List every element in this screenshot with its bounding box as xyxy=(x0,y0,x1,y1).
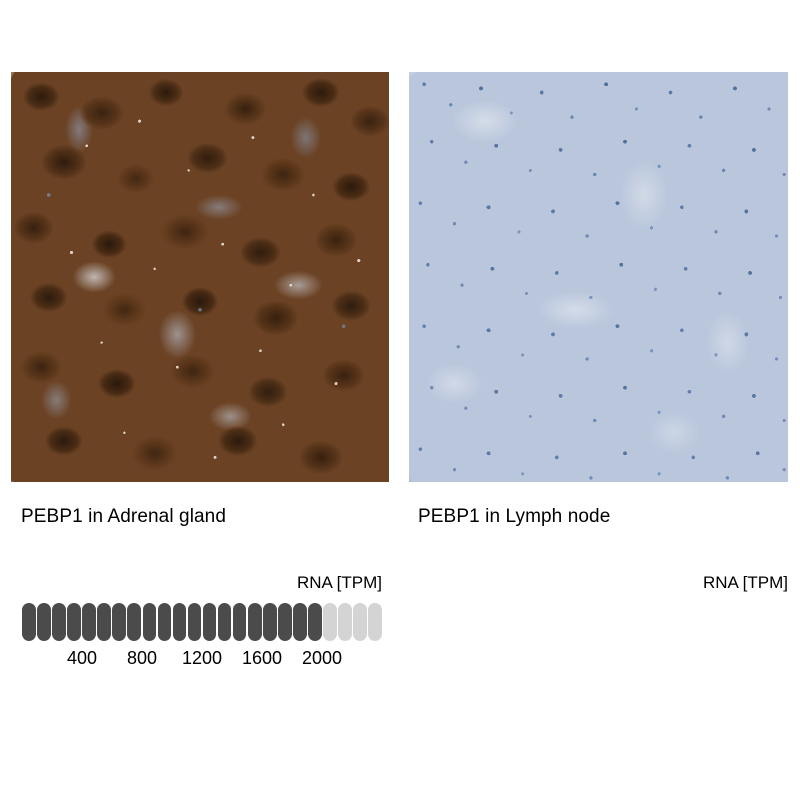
rna-block-lymph-node: RNA [TPM] 400800120016002000 xyxy=(400,0,800,800)
rna-bar-segment xyxy=(52,603,66,641)
rna-legend-label: RNA [TPM] xyxy=(703,573,788,593)
panel-lymph-node: PEBP1 in Lymph node RNA [TPM] 4008001200… xyxy=(400,0,800,800)
rna-bar-segment xyxy=(127,603,141,641)
rna-tick-label: 400 xyxy=(67,648,97,669)
rna-block-adrenal-gland: RNA [TPM] 400800120016002000 xyxy=(0,0,400,800)
rna-axis-ticks-adrenal-gland: 400800120016002000 xyxy=(22,648,382,672)
rna-bar-segment xyxy=(173,603,187,641)
rna-bar-segment xyxy=(278,603,292,641)
rna-bar-segment xyxy=(338,603,352,641)
rna-bar-segment xyxy=(97,603,111,641)
rna-bar-segment xyxy=(323,603,337,641)
rna-bar-segment xyxy=(263,603,277,641)
rna-bar-segment xyxy=(37,603,51,641)
rna-bar-segment xyxy=(308,603,322,641)
rna-bar-segment xyxy=(82,603,96,641)
rna-bar-segment xyxy=(293,603,307,641)
rna-bar-segment xyxy=(143,603,157,641)
rna-tick-label: 2000 xyxy=(302,648,342,669)
rna-bar-segment xyxy=(158,603,172,641)
rna-legend-label: RNA [TPM] xyxy=(297,573,382,593)
rna-bar-segment xyxy=(188,603,202,641)
rna-bar-adrenal-gland[interactable] xyxy=(22,603,382,641)
panel-adrenal-gland: PEBP1 in Adrenal gland RNA [TPM] 4008001… xyxy=(0,0,400,800)
rna-tick-label: 1200 xyxy=(182,648,222,669)
rna-bar-segment xyxy=(248,603,262,641)
rna-bar-segment xyxy=(233,603,247,641)
rna-tick-label: 1600 xyxy=(242,648,282,669)
protein-atlas-tissue-comparison: PEBP1 in Adrenal gland RNA [TPM] 4008001… xyxy=(0,0,800,800)
rna-bar-segment xyxy=(203,603,217,641)
rna-bar-segment xyxy=(22,603,36,641)
rna-bar-segment xyxy=(218,603,232,641)
rna-tick-label: 800 xyxy=(127,648,157,669)
rna-bar-segment xyxy=(67,603,81,641)
rna-bar-segment xyxy=(112,603,126,641)
rna-bar-segment xyxy=(368,603,382,641)
rna-bar-segment xyxy=(353,603,367,641)
